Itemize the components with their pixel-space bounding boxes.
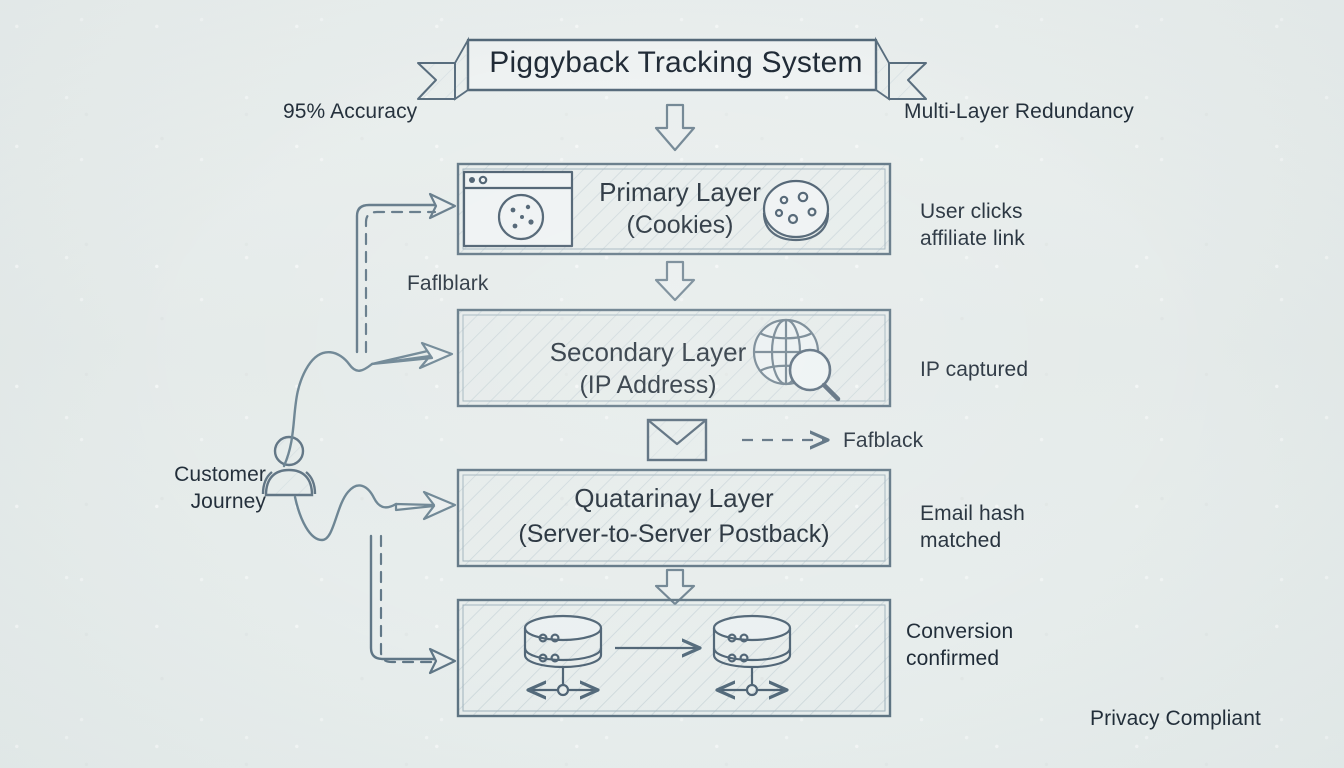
customer-journey-label: Customer Journey — [156, 461, 266, 515]
annotation-redundancy: Multi-Layer Redundancy — [904, 98, 1134, 125]
annotation-accuracy: 95% Accuracy — [283, 98, 417, 125]
annotation-faflblark: Faflblark — [407, 270, 488, 297]
note-storage: Conversion confirmed — [906, 618, 1013, 672]
note-secondary: IP captured — [920, 356, 1028, 383]
layer-subtitle-secondary: (IP Address) — [500, 369, 796, 402]
arrow-banner-to-primary — [656, 105, 694, 150]
customer-icon — [263, 437, 315, 495]
layer-box-storage[interactable] — [458, 600, 890, 716]
journey-path-upper — [284, 194, 455, 466]
envelope-icon — [648, 420, 706, 460]
layer-title-primary: Primary Layer — [572, 176, 788, 209]
annotation-privacy: Privacy Compliant — [1090, 705, 1261, 732]
layer-title-secondary: Secondary Layer — [500, 336, 796, 369]
layer-title-quatarinay: Quatarinay Layer — [458, 482, 890, 515]
note-quatarinay: Email hash matched — [920, 500, 1025, 554]
arrow-primary-to-secondary — [656, 262, 694, 300]
annotation-fafblack: Fafblack — [843, 427, 923, 454]
layer-subtitle-primary: (Cookies) — [572, 209, 788, 242]
diagram-canvas: Piggyback Tracking System 95% Accuracy M… — [0, 0, 1344, 768]
layer-subtitle-quatarinay: (Server-to-Server Postback) — [458, 518, 890, 551]
page-title: Piggyback Tracking System — [470, 46, 882, 80]
journey-path-lower — [295, 485, 455, 673]
browser-cookie-icon — [464, 172, 572, 246]
note-primary: User clicks affiliate link — [920, 198, 1025, 252]
